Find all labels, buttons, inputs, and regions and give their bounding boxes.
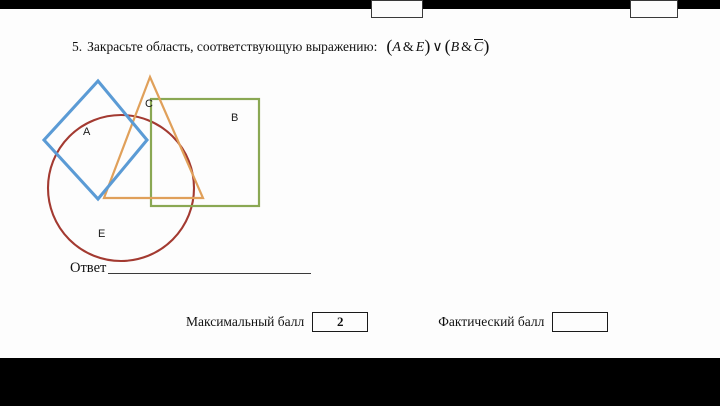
formula-open-paren-2: ( xyxy=(445,39,451,53)
top-partial-box-left xyxy=(371,0,423,18)
shape-triangle-c xyxy=(104,77,203,198)
formula-amp-2: & xyxy=(461,40,472,56)
actual-score-label: Фактический балл xyxy=(438,314,544,330)
formula-amp-1: & xyxy=(403,40,414,56)
formula-close-paren-2: ) xyxy=(483,39,489,53)
actual-score-box[interactable] xyxy=(552,312,608,332)
answer-blank-line[interactable] xyxy=(108,273,311,274)
formula-var-c-negated: C xyxy=(474,39,483,56)
diagram-label-c: C xyxy=(145,98,153,110)
venn-diagram xyxy=(0,9,300,269)
max-score-label: Максимальный балл xyxy=(186,314,304,330)
diagram-label-b: B xyxy=(231,112,238,124)
screenshot-root: 5. Закрасьте область, соответствующую вы… xyxy=(0,0,720,406)
score-row: Максимальный балл 2 Фактический балл xyxy=(186,312,608,332)
formula-disjunction: ∨ xyxy=(432,39,442,56)
logic-formula: (A&E)∨(B&C) xyxy=(386,38,489,56)
diagram-label-e: E xyxy=(98,228,105,240)
answer-label: Ответ xyxy=(70,260,106,277)
max-score-box: 2 xyxy=(312,312,368,332)
shape-diamond-a xyxy=(44,81,147,199)
shape-circle-e xyxy=(48,115,194,261)
diagram-label-a: A xyxy=(83,126,90,138)
formula-var-e: E xyxy=(416,40,425,56)
formula-close-paren-1: ) xyxy=(424,39,430,53)
document-sheet: 5. Закрасьте область, соответствующую вы… xyxy=(0,9,720,358)
answer-row: Ответ xyxy=(70,260,311,277)
formula-open-paren-1: ( xyxy=(386,39,392,53)
top-partial-box-right xyxy=(630,0,678,18)
formula-var-a: A xyxy=(392,40,401,56)
formula-var-b: B xyxy=(451,40,460,56)
